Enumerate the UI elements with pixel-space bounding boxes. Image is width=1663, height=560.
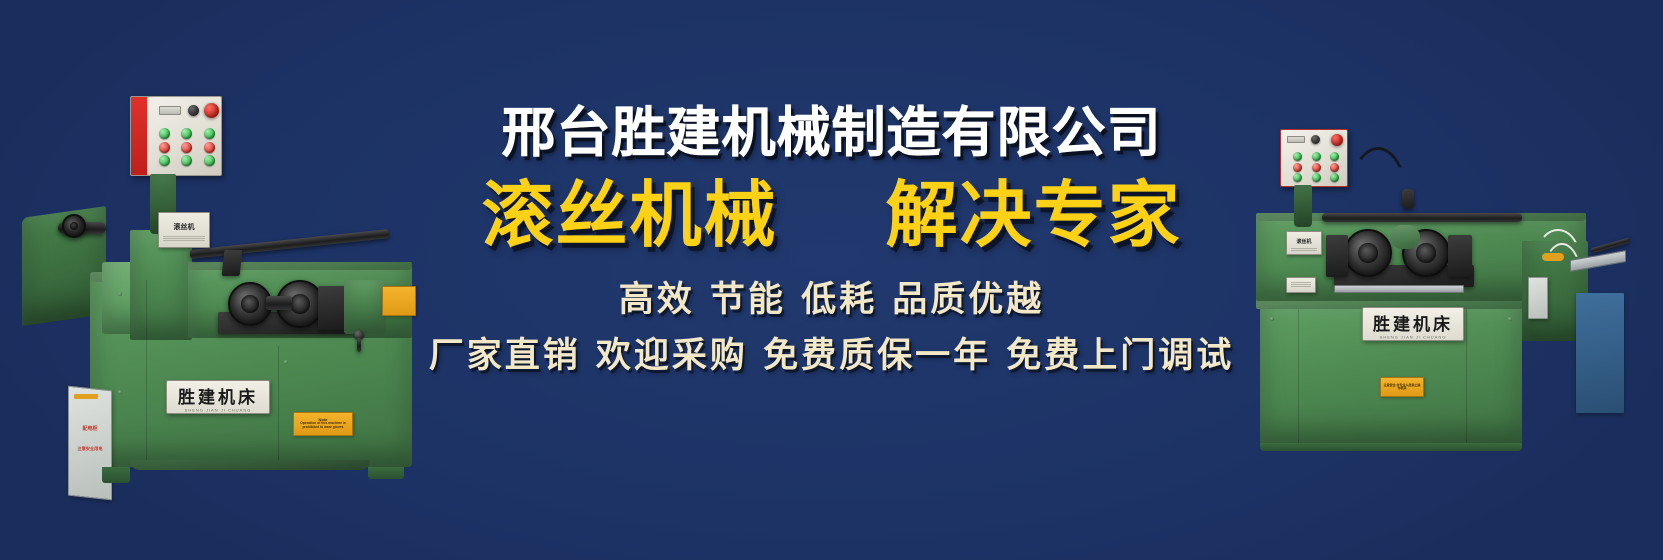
left-machine-motor-cover (344, 280, 386, 334)
left-machine-warning-label: Note Operation of this machine is prohib… (293, 412, 353, 436)
left-machine-rear-roller (62, 214, 86, 238)
indicator-red[interactable] (1312, 163, 1321, 172)
right-machine-nameplate: 胜建机床 SHENG JIAN JI CHUANG (1362, 307, 1464, 341)
left-machine-roller-axle (266, 296, 292, 310)
left-panel-display (159, 106, 181, 115)
indicator-green[interactable] (1293, 173, 1302, 182)
left-body-seam-1 (146, 280, 147, 466)
left-machine-foot-left (102, 467, 130, 483)
left-cabinet-handle-strip (74, 394, 98, 399)
right-machine-slide-right (1448, 235, 1472, 277)
slogan-row: 滚丝机械 解决专家 (481, 176, 1181, 254)
spec-divider (1291, 284, 1311, 285)
machine-right-photo: 滚丝机 胜建机床 SHENG JIAN JI CHUANG 注意安全 非专业人员… (1250, 125, 1650, 455)
promises-line: 厂家直销 欢迎采购 免费质保一年 免费上门调试 (429, 336, 1235, 376)
right-panel-selector-knob[interactable] (1311, 135, 1320, 144)
right-panel-display (1287, 136, 1305, 143)
left-cabinet-tag-bottom: 注意安全用电 (68, 446, 112, 451)
indicator-green[interactable] (181, 128, 192, 139)
right-machine-roller-1 (1344, 229, 1392, 277)
right-body-seam-2 (1466, 309, 1467, 443)
right-machine-chip-tray (1334, 285, 1464, 293)
right-warning-text: 注意安全 非专业人员禁止操作机床 (1381, 384, 1423, 391)
right-body-seam-1 (1298, 309, 1299, 443)
left-nameplate-brand: 胜建机床 (178, 383, 258, 408)
right-machine-blue-unit (1576, 293, 1624, 413)
right-machine-side-box (1528, 277, 1548, 319)
left-machine-electrical-cabinet (68, 386, 112, 501)
left-panel-emergency-stop-button[interactable] (204, 103, 219, 118)
spec-divider (163, 236, 205, 237)
right-nameplate-pinyin: SHENG JIAN JI CHUANG (1380, 336, 1447, 340)
right-body-bolt (1270, 317, 1274, 321)
company-name: 邢台胜建机械制造有限公司 (502, 104, 1162, 162)
left-machine-nameplate: 胜建机床 SHENG JIAN JI CHUANG (166, 380, 270, 414)
right-machine-spec-plate-2 (1286, 277, 1316, 293)
right-panel-conduit (1348, 147, 1408, 199)
indicator-green[interactable] (1330, 152, 1339, 161)
machine-left-photo: 滚丝机 胜建机床 SHENG JIAN JI CHUANG Note Opera… (18, 90, 418, 470)
indicator-green[interactable] (159, 128, 170, 139)
right-spec-plate-title: 滚丝机 (1287, 238, 1321, 245)
left-spec-plate-title: 滚丝机 (159, 222, 209, 232)
left-machine-rod-bracket (222, 250, 243, 276)
spec-divider (163, 238, 205, 239)
right-body-bolt (1508, 317, 1512, 321)
indicator-red[interactable] (159, 142, 170, 153)
left-machine-foot-right (368, 467, 404, 479)
features-line: 高效 节能 低耗 品质优越 (619, 280, 1045, 320)
left-panel-selector-knob[interactable] (188, 105, 199, 116)
left-cabinet-tag-top: 配电柜 (70, 426, 110, 432)
slogan-right: 解决专家 (886, 176, 1182, 254)
spec-divider (1291, 248, 1317, 249)
right-machine-tie-bar (1322, 213, 1522, 222)
spec-divider (1291, 282, 1311, 283)
left-panel-indicator-grid[interactable] (155, 123, 219, 171)
slogan-left: 滚丝机械 (481, 176, 777, 254)
spec-divider (1291, 286, 1311, 287)
left-nameplate-pinyin: SHENG JIAN JI CHUANG (185, 409, 252, 413)
indicator-red[interactable] (1330, 163, 1339, 172)
indicator-green[interactable] (159, 155, 170, 166)
indicator-green[interactable] (1293, 152, 1302, 161)
left-panel-red-edge (131, 97, 147, 175)
indicator-green[interactable] (1330, 173, 1339, 182)
left-machine-tie-rod (190, 229, 390, 259)
indicator-green[interactable] (1312, 152, 1321, 161)
indicator-green[interactable] (204, 155, 215, 166)
right-machine-center-guard (1390, 225, 1420, 249)
indicator-green[interactable] (1312, 173, 1321, 182)
right-panel-indicator-grid[interactable] (1289, 150, 1343, 184)
left-warning-text: Operation of this machine is prohibited … (294, 422, 352, 430)
left-machine-spec-plate: 滚丝机 (158, 212, 210, 248)
promotional-banner: 滚丝机 胜建机床 SHENG JIAN JI CHUANG Note Opera… (0, 0, 1663, 560)
left-machine-control-panel[interactable] (130, 96, 222, 176)
left-machine-roller-support (318, 286, 346, 330)
left-machine-deck-label (382, 286, 416, 316)
right-machine-control-panel[interactable] (1280, 129, 1348, 187)
right-panel-conduit-end (1402, 189, 1414, 209)
left-machine-apron (130, 460, 370, 470)
right-machine-orange-connector (1542, 253, 1564, 261)
right-panel-stand (1294, 185, 1312, 227)
right-machine-slide-left (1326, 235, 1348, 277)
right-nameplate-brand: 胜建机床 (1373, 310, 1453, 335)
indicator-red[interactable] (181, 142, 192, 153)
left-body-bolt (118, 292, 122, 296)
indicator-red[interactable] (1293, 163, 1302, 172)
right-machine-warning-label: 注意安全 非专业人员禁止操作机床 (1380, 377, 1424, 397)
left-body-bolt (284, 360, 288, 364)
right-machine-spec-plate: 滚丝机 (1286, 231, 1322, 255)
left-body-bolt (118, 390, 122, 394)
left-machine-adjust-rod (357, 338, 361, 352)
indicator-red[interactable] (204, 142, 215, 153)
indicator-green[interactable] (181, 155, 192, 166)
indicator-green[interactable] (204, 128, 215, 139)
spec-divider (163, 240, 205, 241)
spec-divider (1291, 250, 1317, 251)
right-panel-emergency-stop-button[interactable] (1331, 134, 1343, 146)
left-body-seam-2 (278, 346, 279, 466)
right-machine-foot (1260, 443, 1522, 451)
